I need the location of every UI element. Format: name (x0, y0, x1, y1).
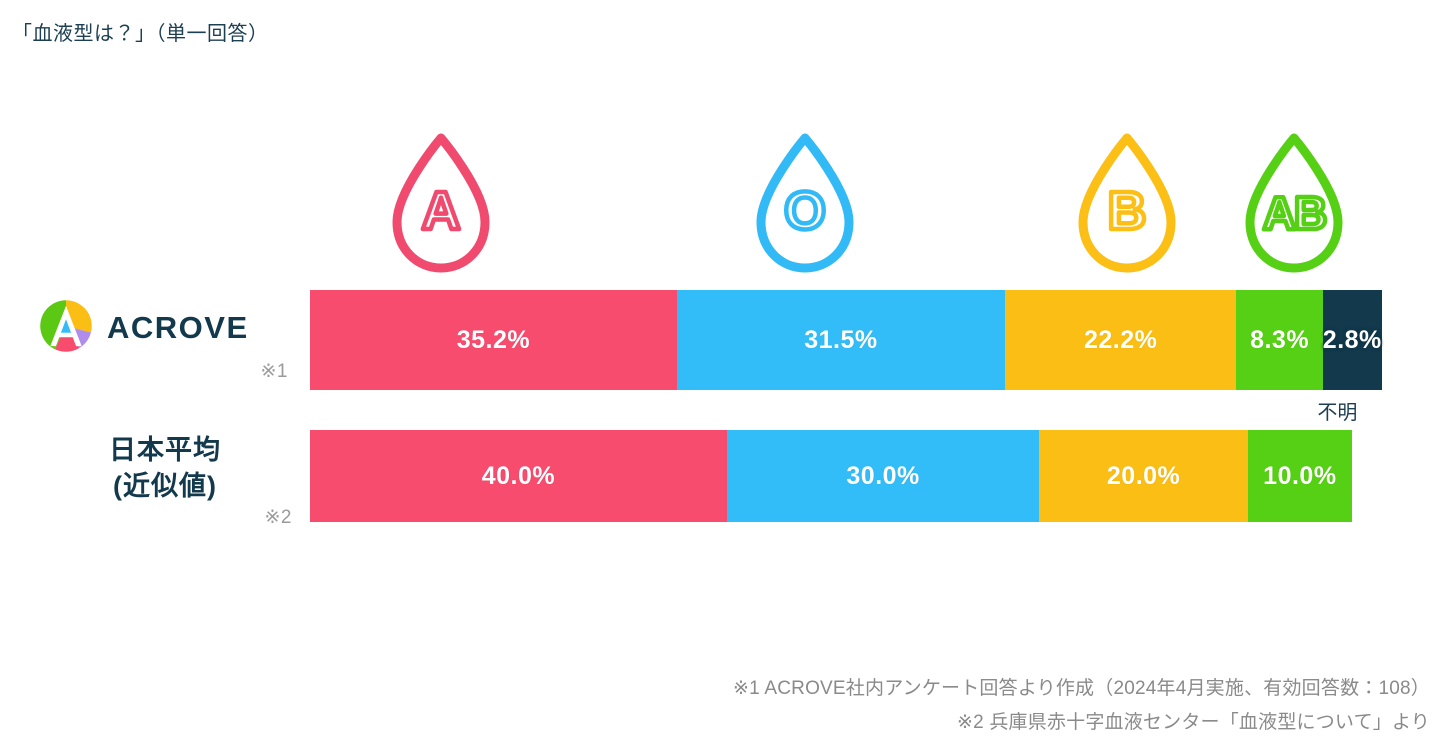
acrove-wordmark: ACROVE (107, 312, 249, 343)
bar-segment-value: 10.0% (1263, 462, 1336, 491)
acrove-logo: ACROVE (38, 298, 249, 354)
bar-segment-value: 8.3% (1250, 326, 1309, 355)
unknown-segment-caption: 不明 (1277, 396, 1397, 425)
japan-average-line1: 日本平均 (30, 432, 300, 468)
bar-segment-japan-average-AB[interactable]: 10.0% (1248, 430, 1352, 522)
footnotes: ※1 ACROVE社内アンケート回答より作成（2024年4月実施、有効回答数：1… (733, 672, 1430, 740)
footnote-marker-2: ※2 (30, 506, 300, 529)
bar-segment-value: 22.2% (1084, 326, 1157, 355)
bar-segment-value: 30.0% (846, 462, 919, 491)
footnote-2: ※2 兵庫県赤十字血液センター「血液型について」より (733, 706, 1430, 740)
bar-segment-acrove-A[interactable]: 35.2% (310, 290, 677, 390)
bar-segment-acrove-O[interactable]: 31.5% (677, 290, 1005, 390)
bar-segment-value: 35.2% (457, 326, 530, 355)
bar-row-acrove: 35.2%31.5%22.2%8.3%2.8% (310, 290, 1352, 390)
bar-segment-japan-average-O[interactable]: 30.0% (727, 430, 1040, 522)
bar-segment-acrove-不明[interactable]: 2.8% (1323, 290, 1382, 390)
bar-row-japan-average: 40.0%30.0%20.0%10.0% (310, 430, 1352, 522)
row-label-acrove: ACROVE ※1 (30, 292, 300, 388)
bar-segment-japan-average-B[interactable]: 20.0% (1039, 430, 1247, 522)
acrove-logo-mark (38, 298, 94, 354)
footnote-1: ※1 ACROVE社内アンケート回答より作成（2024年4月実施、有効回答数：1… (733, 672, 1430, 706)
stacked-bar-chart: ACROVE ※1 35.2%31.5%22.2%8.3%2.8% 日本平均 (… (0, 0, 1440, 754)
bar-segment-acrove-B[interactable]: 22.2% (1005, 290, 1236, 390)
bar-segment-value: 20.0% (1107, 462, 1180, 491)
bar-segment-japan-average-A[interactable]: 40.0% (310, 430, 727, 522)
bar-segment-value: 2.8% (1323, 326, 1382, 355)
bar-segment-value: 31.5% (804, 326, 877, 355)
footnote-marker-1: ※1 (261, 360, 289, 383)
row-label-japan-average: 日本平均 (近似値) ※2 (30, 432, 300, 529)
bar-segment-value: 40.0% (482, 462, 555, 491)
japan-average-line2: (近似値) (30, 468, 300, 504)
bar-segment-acrove-AB[interactable]: 8.3% (1236, 290, 1322, 390)
